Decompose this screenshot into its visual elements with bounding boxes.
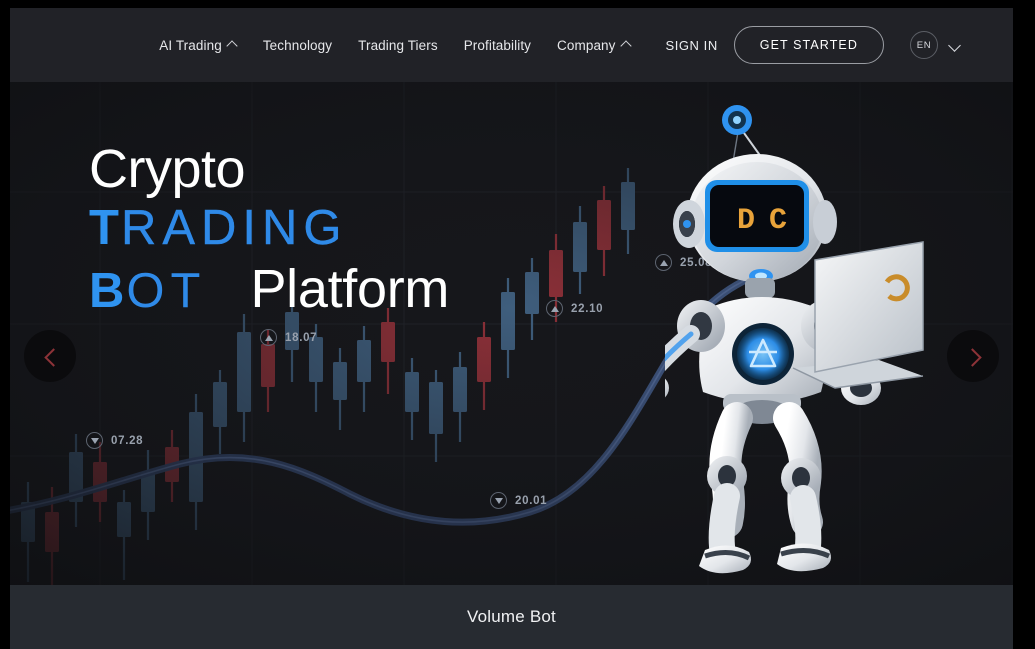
nav-item-technology[interactable]: Technology <box>250 38 345 53</box>
nav-item-profitability[interactable]: Profitability <box>451 38 544 53</box>
site-header: AI TradingTechnologyTrading TiersProfita… <box>10 8 1013 82</box>
triangle-up-icon <box>546 300 563 317</box>
triangle-glyph <box>265 335 273 341</box>
chart-marker-value: 18.07 <box>285 332 317 344</box>
main-navigation: AI TradingTechnologyTrading TiersProfita… <box>146 38 643 53</box>
language-code[interactable]: EN <box>910 31 938 59</box>
robot-face-left-glyph: D <box>737 204 755 238</box>
nav-item-label: AI Trading <box>159 38 222 53</box>
nav-item-company[interactable]: Company <box>544 38 643 53</box>
triangle-up-icon <box>260 329 277 346</box>
triangle-glyph <box>91 438 99 444</box>
nav-item-label: Technology <box>263 38 332 53</box>
chevron-left-icon <box>43 349 58 364</box>
carousel-prev-button[interactable] <box>24 330 76 382</box>
chevron-down-icon[interactable] <box>949 39 961 51</box>
chevron-up-icon <box>622 39 631 48</box>
trading-robot-illustration: D C <box>665 82 925 582</box>
triangle-glyph <box>495 498 503 504</box>
nav-item-label: Company <box>557 38 615 53</box>
triangle-down-icon <box>86 432 103 449</box>
chart-marker-18-07: 18.07 <box>260 329 317 346</box>
bottom-bar: Volume Bot <box>10 585 1013 649</box>
triangle-down-icon <box>490 492 507 509</box>
carousel-next-button[interactable] <box>947 330 999 382</box>
sign-in-link[interactable]: SIGN IN <box>644 38 734 53</box>
hero-section: Crypto TRADING BOT Platform 07.2818.0722… <box>10 82 1013 585</box>
browser-viewport: AI TradingTechnologyTrading TiersProfita… <box>0 0 1035 649</box>
nav-item-ai-trading[interactable]: AI Trading <box>146 38 250 53</box>
chart-marker-value: 22.10 <box>571 303 603 315</box>
chart-marker-value: 20.01 <box>515 495 547 507</box>
chart-marker-value: 07.28 <box>111 435 143 447</box>
chevron-up-icon <box>228 39 237 48</box>
chevron-right-icon <box>966 349 981 364</box>
nav-item-label: Trading Tiers <box>358 38 438 53</box>
chart-marker-07-28: 07.28 <box>86 432 143 449</box>
nav-item-label: Profitability <box>464 38 531 53</box>
bottom-bar-label: Volume Bot <box>467 607 556 627</box>
chart-marker-22-10: 22.10 <box>546 300 603 317</box>
triangle-glyph <box>551 306 559 312</box>
robot-face-right-glyph: C <box>769 204 787 238</box>
page-surface: AI TradingTechnologyTrading TiersProfita… <box>10 8 1013 649</box>
get-started-button[interactable]: GET STARTED <box>734 26 884 64</box>
nav-item-trading-tiers[interactable]: Trading Tiers <box>345 38 451 53</box>
language-selector[interactable]: EN <box>910 31 961 59</box>
chart-marker-20-01: 20.01 <box>490 492 547 509</box>
